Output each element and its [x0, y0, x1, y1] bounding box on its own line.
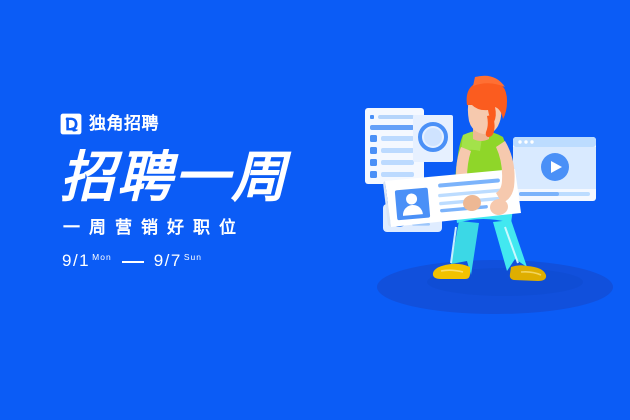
date-range: 9/1 Mon 9/7 Sun	[60, 252, 340, 269]
person-carrying-resume-illustration	[355, 75, 620, 330]
end-date: 9/7	[154, 252, 182, 269]
date-separator-dash	[122, 261, 144, 263]
text-block: 独角招聘 招聘一周 一周营销好职位 9/1 Mon 9/7 Sun	[60, 112, 340, 269]
circle-badge-card	[413, 115, 453, 162]
start-date: 9/1	[62, 252, 90, 269]
page-subtitle: 一周营销好职位	[60, 219, 340, 236]
unicorn-d-logo-icon	[60, 113, 82, 135]
end-day: Sun	[184, 253, 202, 262]
brand-row: 独角招聘	[60, 112, 340, 136]
video-browser-window	[513, 137, 596, 201]
page-title: 招聘一周	[60, 150, 340, 205]
brand-name: 独角招聘	[89, 113, 159, 135]
recruitment-weekly-banner: 独角招聘 招聘一周 一周营销好职位 9/1 Mon 9/7 Sun	[0, 0, 630, 420]
start-day: Mon	[92, 253, 112, 262]
